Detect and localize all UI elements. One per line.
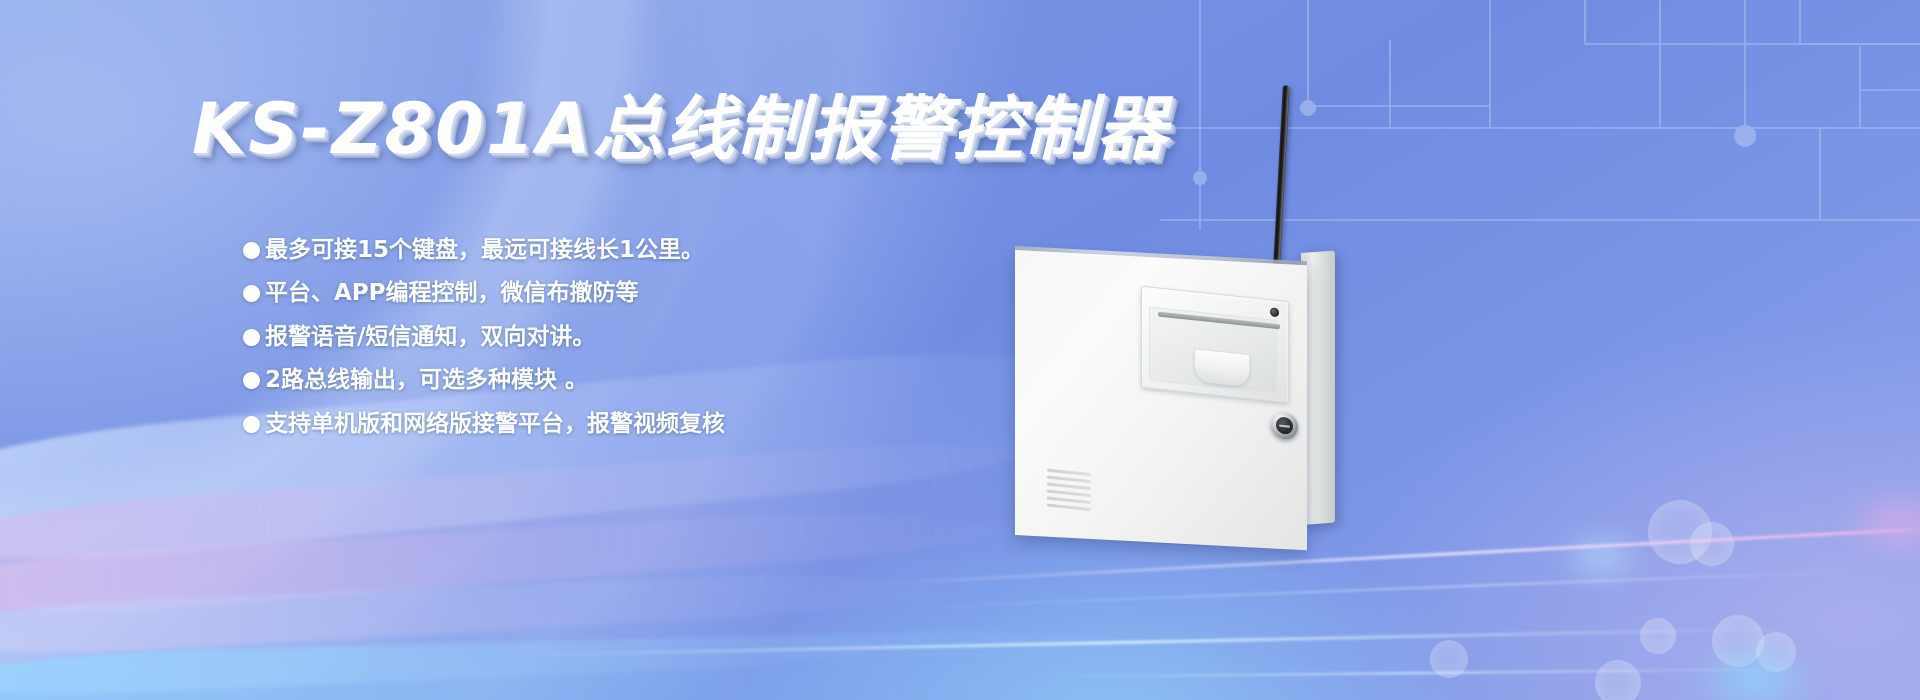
lock-keyhole-slot <box>1279 424 1290 428</box>
vent-slot <box>1047 476 1091 484</box>
bullet-dot-icon <box>243 242 260 259</box>
vent-slot <box>1047 490 1091 498</box>
product-banner: KS-Z801A总线制报警控制器 最多可接15个键盘，最远可接线长1公里。 平台… <box>0 0 1920 700</box>
ribbon-4 <box>0 565 981 700</box>
page-title: KS-Z801A总线制报警控制器 <box>192 73 1169 174</box>
list-item: 报警语音/短信通知，双向对讲。 <box>243 323 1073 352</box>
bokeh-circle-5 <box>1640 618 1676 654</box>
bokeh-circle-4 <box>1756 632 1796 672</box>
module-pull-tab <box>1194 348 1250 387</box>
bokeh-circle-6 <box>1595 660 1641 700</box>
keypad-display-module <box>1141 286 1289 404</box>
bokeh-circle-1 <box>1648 500 1712 564</box>
vent-slot <box>1047 469 1091 477</box>
product-image <box>1015 150 1575 570</box>
feature-list: 最多可接15个键盘，最远可接线长1公里。 平台、APP编程控制，微信布撤防等 报… <box>243 236 1073 453</box>
ventilation-slots <box>1047 469 1091 516</box>
bokeh-circle-7 <box>1430 640 1468 678</box>
light-streak-4 <box>1040 668 1800 678</box>
bullet-dot-icon <box>243 372 260 389</box>
list-item: 2路总线输出，可选多种模块 。 <box>243 366 1073 395</box>
feature-text: 支持单机版和网络版接警平台，报警视频复核 <box>265 410 725 439</box>
ribbon-5 <box>0 624 1261 700</box>
bullet-dot-icon <box>243 329 260 346</box>
list-item: 支持单机版和网络版接警平台，报警视频复核 <box>243 410 1073 439</box>
module-inner-panel <box>1149 307 1277 394</box>
key-lock-cylinder <box>1271 411 1298 441</box>
status-led-icon <box>1270 307 1279 317</box>
bokeh-circle-3 <box>1712 615 1764 667</box>
list-item: 平台、APP编程控制，微信布撤防等 <box>243 279 1073 308</box>
light-streak-2 <box>900 569 1879 609</box>
feature-text: 2路总线输出，可选多种模块 。 <box>265 366 588 395</box>
vent-slot <box>1047 504 1091 512</box>
bullet-dot-icon <box>243 285 260 302</box>
list-item: 最多可接15个键盘，最远可接线长1公里。 <box>243 236 1073 265</box>
feature-text: 报警语音/短信通知，双向对讲。 <box>265 323 595 352</box>
module-slot <box>1158 312 1280 330</box>
feature-text: 最多可接15个键盘，最远可接线长1公里。 <box>265 236 704 265</box>
ribbon-2 <box>0 428 1121 630</box>
lock-core <box>1276 416 1293 435</box>
glow-cyan <box>1690 640 1820 700</box>
feature-text: 平台、APP编程控制，微信布撤防等 <box>265 279 639 308</box>
vent-slot <box>1047 497 1091 505</box>
glow-pink <box>1840 488 1920 558</box>
ribbon-3 <box>0 500 1041 666</box>
vent-slot <box>1047 483 1091 491</box>
bokeh-circle-2 <box>1690 522 1734 566</box>
light-streak-3 <box>520 626 1820 656</box>
bullet-dot-icon <box>243 416 260 433</box>
